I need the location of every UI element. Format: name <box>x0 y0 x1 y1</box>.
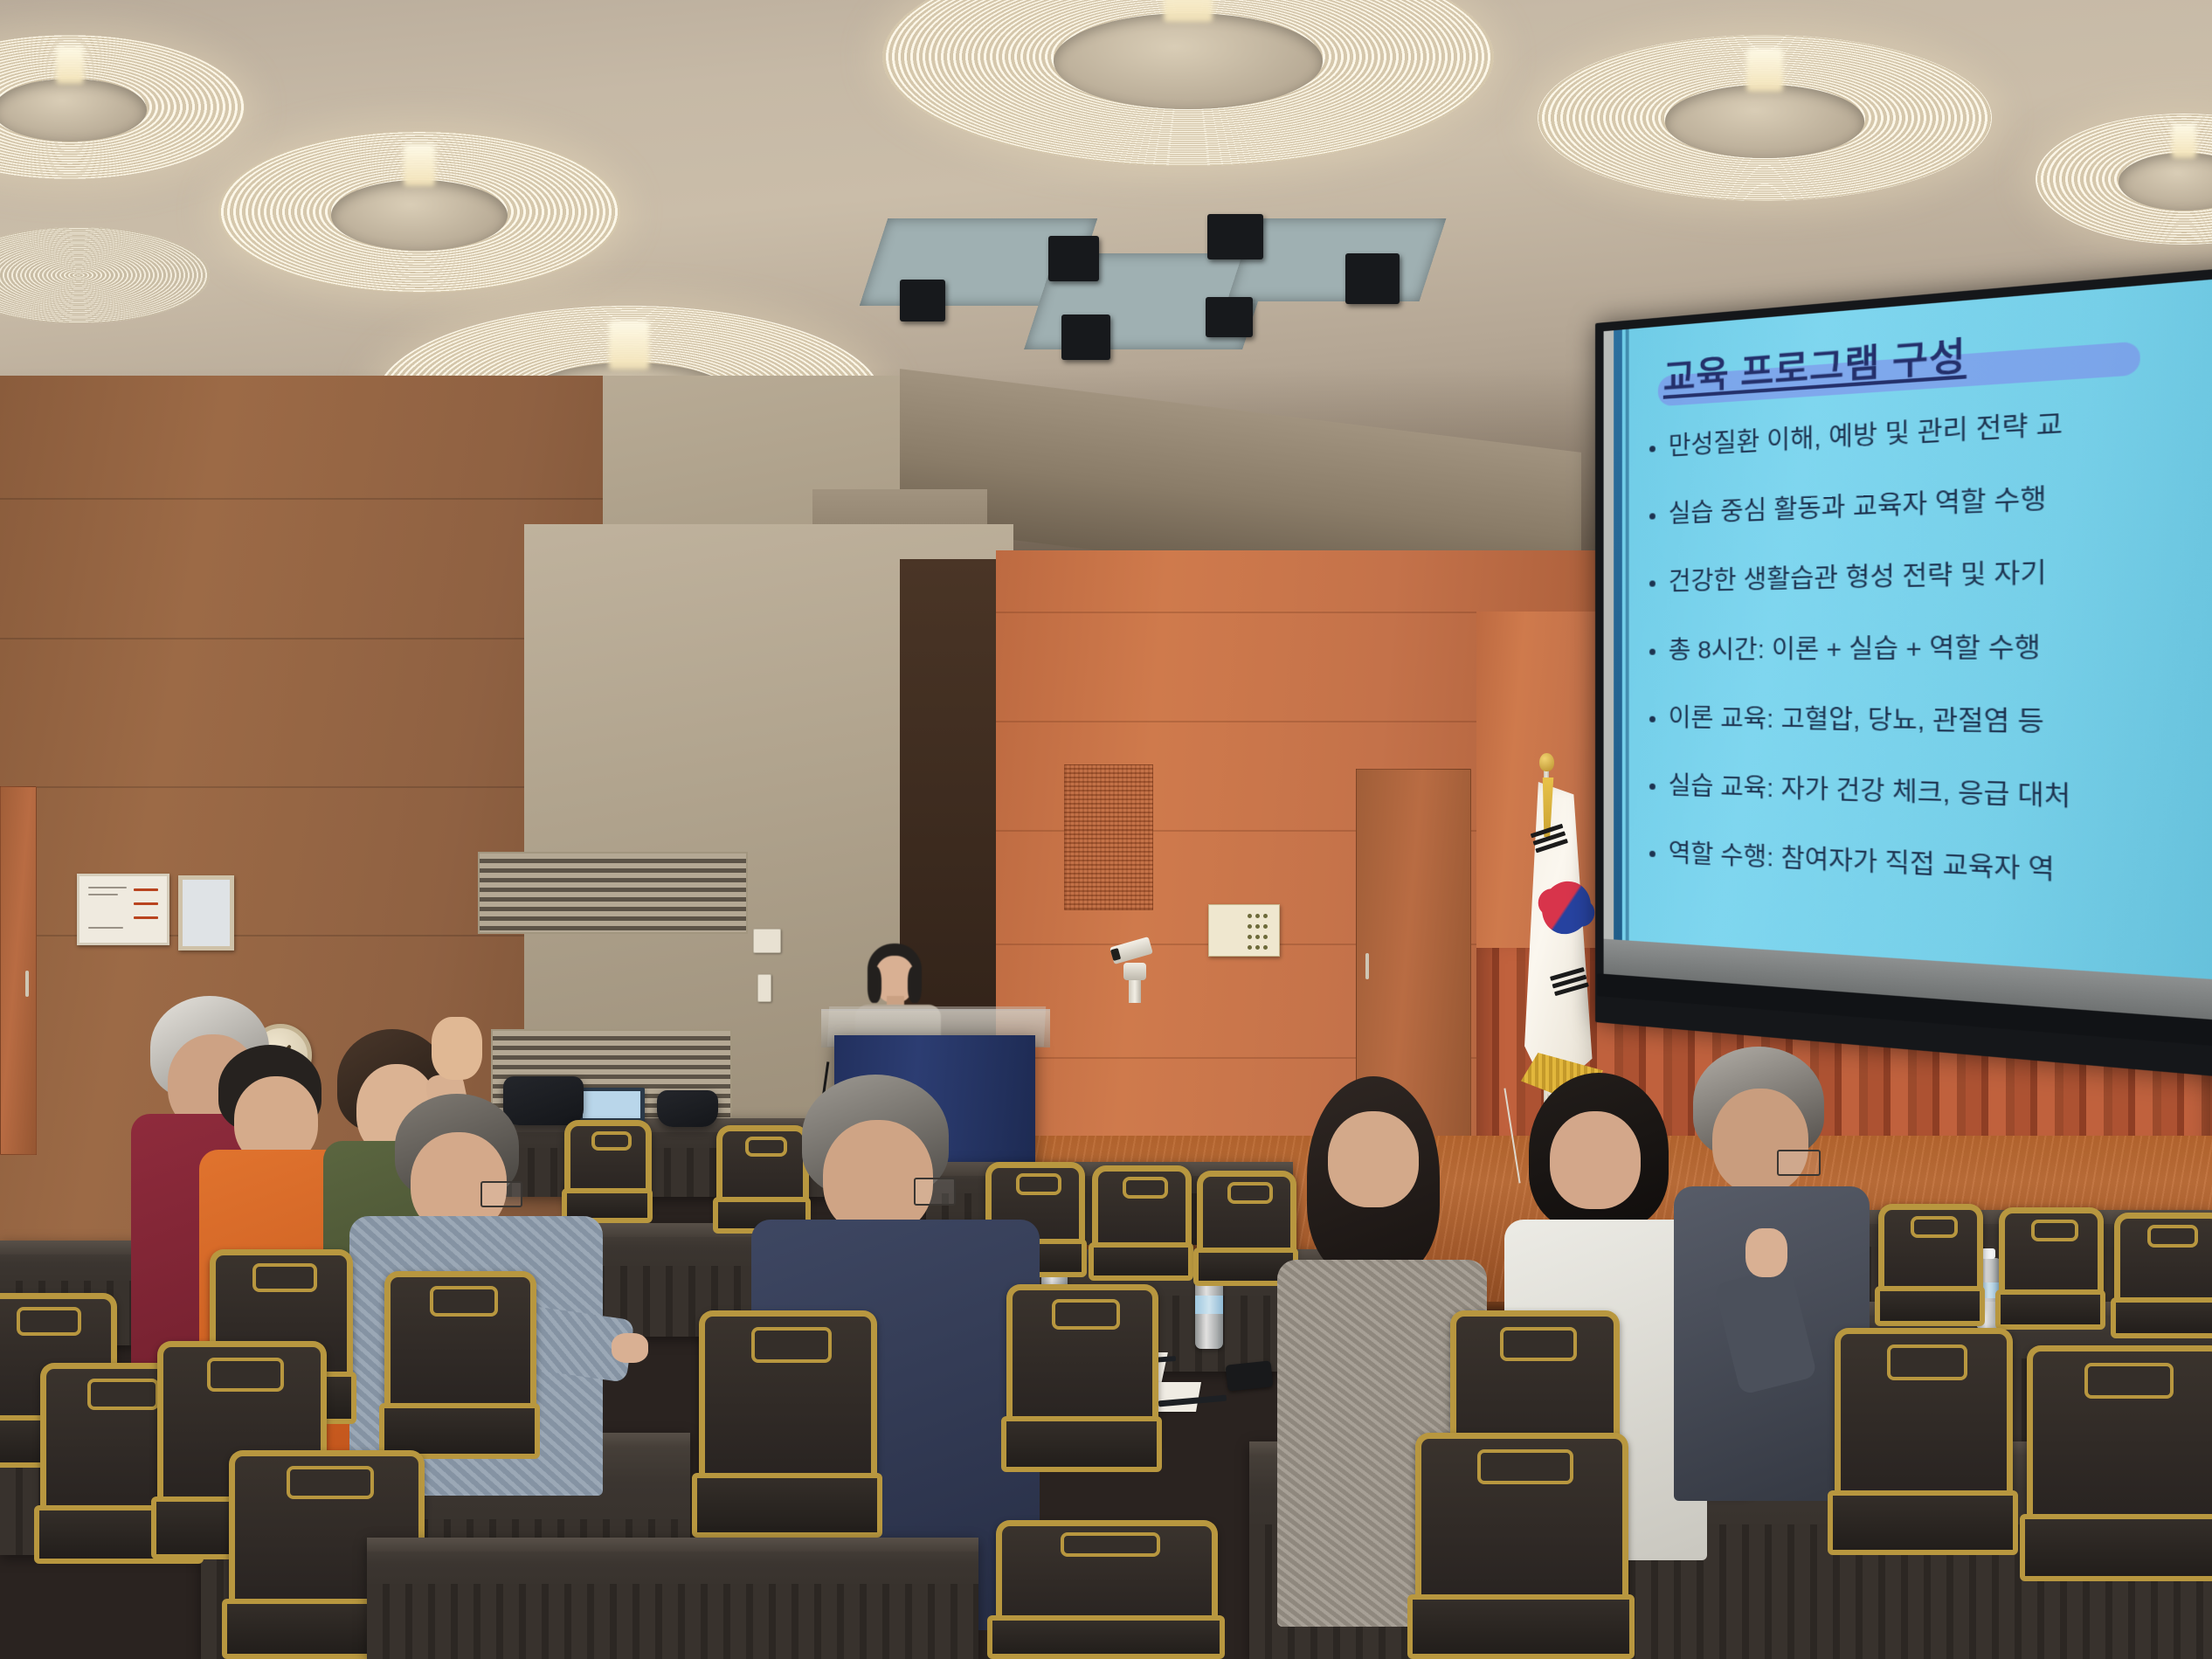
eyeglasses <box>914 1178 956 1206</box>
slide-bullet: 만성질환 이해, 예방 및 관리 전략 교 <box>1646 397 2212 462</box>
presenter-hair-side <box>868 966 881 1003</box>
banquet-chair[interactable] <box>996 1520 1206 1659</box>
projection-screen: 교육 프로그램 구성 만성질환 이해, 예방 및 관리 전략 교 실습 중심 활… <box>1595 323 2212 1022</box>
slide-accent-bar-2 <box>1626 329 1629 941</box>
flag-finial-icon <box>1539 753 1554 771</box>
stage-spotlight <box>1061 315 1110 360</box>
banquet-chair[interactable] <box>1878 1204 1971 1326</box>
banquet-chair[interactable] <box>1092 1165 1179 1281</box>
ceiling-light-cove <box>1538 35 1992 201</box>
person-head <box>1328 1111 1419 1207</box>
lighting-control-panel[interactable] <box>1208 904 1280 957</box>
stage-spotlight <box>1048 236 1099 281</box>
slide-bullet: 이론 교육: 고혈압, 당뇨, 관절염 등 <box>1646 703 2212 741</box>
wall-speaker-grille <box>1064 764 1153 910</box>
banquet-chair[interactable] <box>1835 1328 2001 1555</box>
slide-bullet: 역할 수행: 참여자가 직접 교육자 역 <box>1646 838 2212 896</box>
presentation-slide: 교육 프로그램 구성 만성질환 이해, 예방 및 관리 전략 교 실습 중심 활… <box>1614 273 2212 984</box>
door-left[interactable] <box>0 786 37 1155</box>
slide-bullet-list: 만성질환 이해, 예방 및 관리 전략 교 실습 중심 활동과 교육자 역할 수… <box>1646 397 2212 923</box>
banquet-chair[interactable] <box>1197 1171 1284 1286</box>
banquet-chair[interactable] <box>1415 1433 1616 1659</box>
stage-spotlight <box>900 280 945 321</box>
conference-room-photo: 교육 프로그램 구성 만성질환 이해, 예방 및 관리 전략 교 실습 중심 활… <box>0 0 2212 1659</box>
person-head <box>1712 1089 1808 1193</box>
person-hand <box>612 1333 648 1363</box>
eyeglasses <box>1777 1150 1821 1176</box>
banquet-chair[interactable] <box>2114 1213 2212 1338</box>
banquet-chair[interactable] <box>1006 1284 1146 1472</box>
slide-bullet: 건강한 생활습관 형성 전략 및 자기 <box>1646 552 2212 597</box>
slide-accent-bar <box>1614 329 1622 940</box>
slide-bullet: 실습 교육: 자가 건강 체크, 응급 대처 <box>1646 771 2212 819</box>
wall-switch-plate[interactable] <box>757 974 771 1002</box>
person-head <box>1550 1111 1641 1209</box>
wall-switch-plate[interactable] <box>753 929 781 953</box>
shoulder-bag <box>657 1090 718 1127</box>
person-hand <box>1745 1228 1787 1277</box>
slide-bullet: 실습 중심 활동과 교육자 역할 수행 <box>1646 474 2212 529</box>
banquet-chair[interactable] <box>2027 1345 2212 1581</box>
slide-bullet-highlighted: 총 8시간: 이론 + 실습 + 역할 수행 <box>1646 630 2212 664</box>
banquet-chair[interactable] <box>384 1271 524 1459</box>
ceiling-light-cove <box>218 131 620 293</box>
person-hand <box>432 1017 482 1080</box>
presenter-hair-side <box>908 966 922 1003</box>
banquet-chair[interactable] <box>699 1310 865 1538</box>
eyeglasses <box>480 1181 522 1207</box>
smartphone[interactable] <box>1226 1360 1274 1391</box>
security-camera-mount <box>1129 977 1141 1003</box>
slide-bullet-text: 총 8시간: 이론 + 실습 + 역할 수행 <box>1669 632 2041 663</box>
framed-certificate <box>178 875 234 950</box>
stage-spotlight <box>1345 253 1400 304</box>
banquet-chair[interactable] <box>1999 1207 2091 1330</box>
security-camera-joint <box>1123 963 1146 980</box>
framed-notice <box>77 874 169 945</box>
conference-table-foreground <box>367 1538 978 1659</box>
wall-air-vent <box>478 852 748 934</box>
stage-spotlight <box>1206 297 1253 337</box>
stage-spotlight <box>1207 214 1263 259</box>
